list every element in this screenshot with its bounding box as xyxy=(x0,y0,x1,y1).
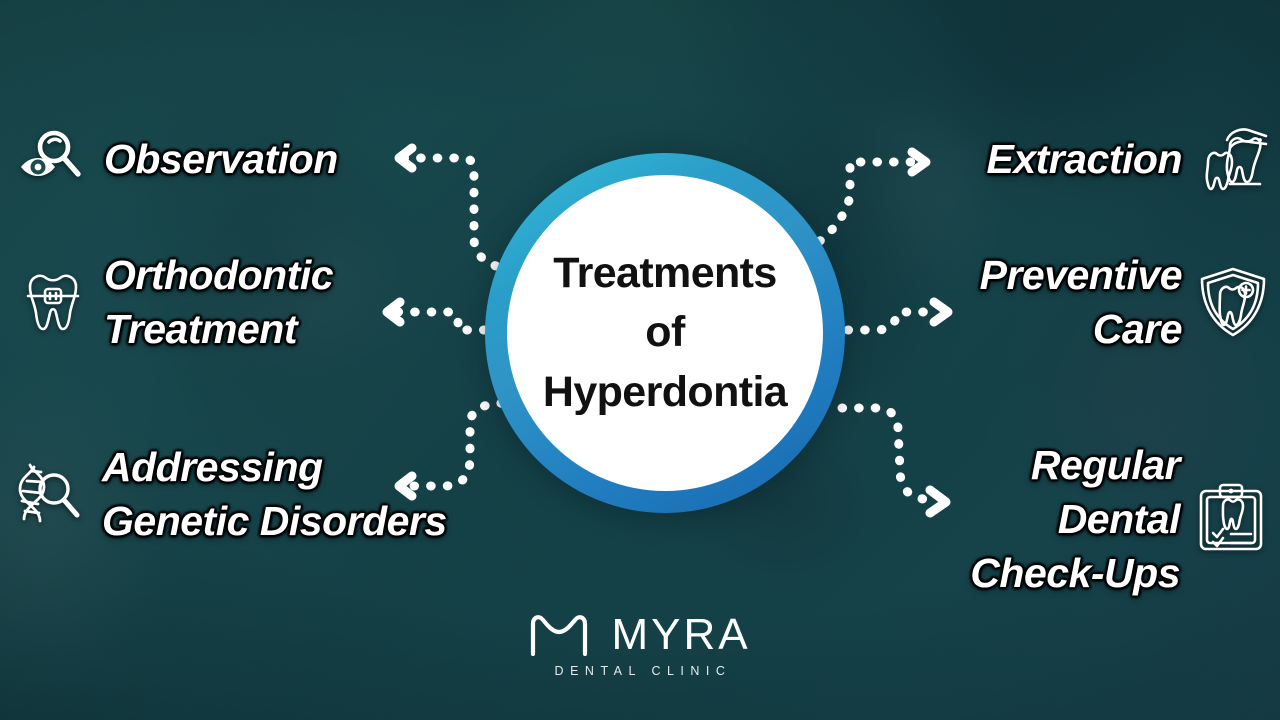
logo-tagline: DENTAL CLINIC xyxy=(549,664,732,678)
node-preventive-care[interactable]: Preventive Care xyxy=(980,248,1270,356)
node-orthodontic-treatment[interactable]: Orthodontic Treatment xyxy=(16,248,333,356)
center-title-line-2: of xyxy=(645,303,684,362)
node-addressing-genetic-disorders[interactable]: Addressing Genetic Disorders xyxy=(14,440,447,548)
node-genetic-line-2: Genetic Disorders xyxy=(102,498,447,544)
node-checkups-line-1: Regular xyxy=(1031,442,1180,488)
node-preventive-line-1: Preventive xyxy=(980,252,1182,298)
center-title-line-3: Hyperdontia xyxy=(543,363,787,422)
node-observation-label: Observation xyxy=(104,132,338,186)
shield-tooth-icon xyxy=(1196,265,1270,339)
myra-m-mark-icon xyxy=(529,614,589,656)
node-preventive-line-2: Care xyxy=(1093,306,1182,352)
node-checkups-line-3: Check-Ups xyxy=(970,550,1180,596)
node-genetic-label: Addressing Genetic Disorders xyxy=(102,440,447,548)
node-orthodontic-line-1: Orthodontic xyxy=(104,252,333,298)
center-hub-disc: Treatments of Hyperdontia xyxy=(507,175,823,491)
tooth-forceps-icon xyxy=(1196,122,1270,196)
center-title-line-1: Treatments xyxy=(553,244,776,303)
node-orthodontic-line-2: Treatment xyxy=(104,306,297,352)
node-extraction[interactable]: Extraction xyxy=(987,122,1271,196)
node-extraction-label: Extraction xyxy=(987,132,1183,186)
eye-magnifier-icon xyxy=(16,122,90,196)
node-regular-dental-checkups[interactable]: Regular Dental Check-Ups xyxy=(970,438,1268,600)
node-checkups-line-2: Dental xyxy=(1058,496,1180,542)
tooth-braces-icon xyxy=(16,265,90,339)
node-checkups-label: Regular Dental Check-Ups xyxy=(970,438,1180,600)
infographic-canvas: .dot { stroke:#ffffff; stroke-width:9; s… xyxy=(0,0,1280,720)
dna-magnifier-icon xyxy=(14,457,88,531)
node-genetic-line-1: Addressing xyxy=(102,444,323,490)
clipboard-tooth-checklist-icon xyxy=(1194,482,1268,556)
logo-wordmark: MYRA xyxy=(611,610,750,660)
center-hub-ring: Treatments of Hyperdontia xyxy=(485,153,845,513)
logo-row: MYRA xyxy=(529,610,750,660)
node-observation[interactable]: Observation xyxy=(16,122,338,196)
brand-logo: MYRA DENTAL CLINIC xyxy=(0,610,1280,678)
node-orthodontic-label: Orthodontic Treatment xyxy=(104,248,333,356)
node-preventive-label: Preventive Care xyxy=(980,248,1182,356)
